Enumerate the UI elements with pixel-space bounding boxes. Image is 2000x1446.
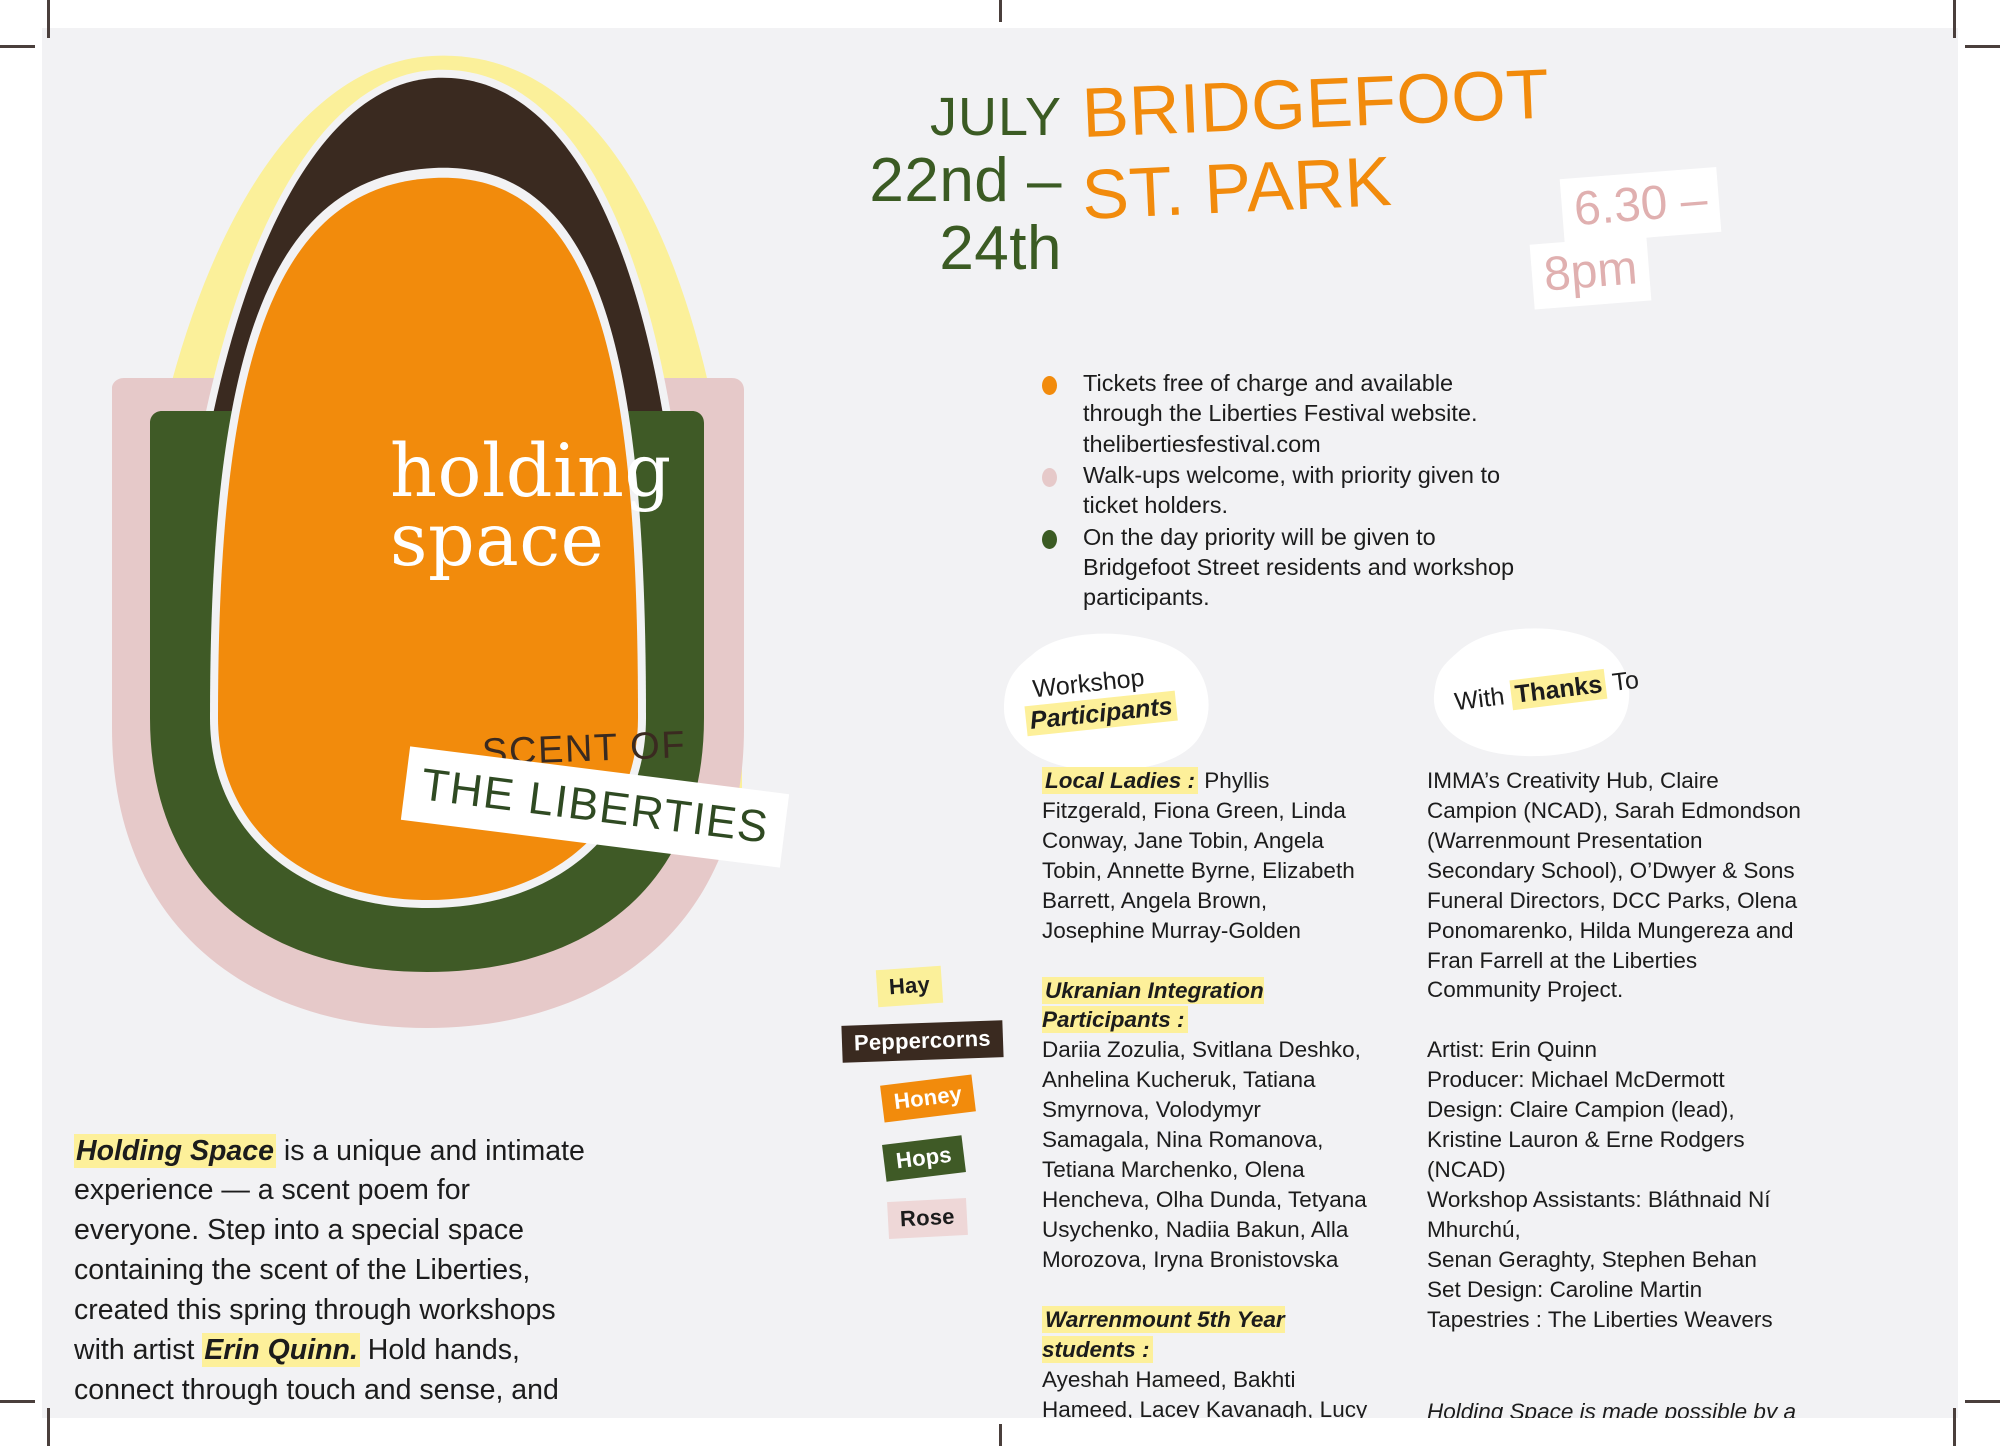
date-day-end: 24th (832, 218, 1062, 280)
workshop-participants-blob: Workshop Participants (1002, 633, 1222, 773)
participants-section-ukranian: Ukranian Integration Participants :Darii… (1042, 976, 1372, 1275)
ticket-info-list: Tickets free of charge and available thr… (1042, 368, 1522, 614)
poster-canvas: holding space SCENT OF THE LIBERTIES Hay… (0, 0, 2000, 1446)
crop-mark-top-right-v (1953, 0, 1956, 38)
credit-line-design: Design: Claire Campion (lead), (1427, 1095, 1807, 1125)
title-line-holding: holding (390, 438, 790, 507)
with-thanks-column: IMMA’s Creativity Hub, Claire Campion (N… (1427, 766, 1807, 1418)
bullet-text-walkups: Walk-ups welcome, with priority given to… (1083, 460, 1522, 521)
event-header: JULY 22nd – 24th BRIDGEFOOT ST. PARK 6.3… (832, 68, 1922, 298)
thanks-post: To (1604, 666, 1640, 698)
crop-mark-top-center (999, 0, 1002, 22)
credit-line-set-design: Set Design: Caroline Martin (1427, 1275, 1807, 1305)
event-time-line-2: 8pm (1530, 235, 1652, 309)
bullet-text-tickets: Tickets free of charge and available thr… (1083, 368, 1522, 459)
bullet-item-walkups: Walk-ups welcome, with priority given to… (1042, 460, 1522, 521)
date-day-start: 22nd – (832, 150, 1062, 212)
crop-mark-bottom-left-h (0, 1400, 35, 1403)
legend-chip-honey: Honey (880, 1075, 976, 1123)
bullet-dot-pink (1042, 468, 1057, 487)
credit-line-producer: Producer: Michael McDermott (1427, 1065, 1807, 1095)
credit-line-design-cont: Kristine Lauron & Erne Rodgers (NCAD) (1427, 1125, 1807, 1185)
section-heading-ukranian: Ukranian Integration Participants : (1042, 977, 1264, 1034)
legend-chip-rose: Rose (887, 1198, 967, 1239)
credit-line-assistants-cont: Senan Geraghty, Stephen Behan (1427, 1245, 1807, 1275)
poster-page: holding space SCENT OF THE LIBERTIES Hay… (42, 28, 1958, 1418)
legend-chip-hay: Hay (876, 966, 943, 1007)
crop-mark-bottom-right-v (1953, 1408, 1956, 1446)
crop-mark-top-left-v (47, 0, 50, 38)
venue-line-2: ST. PARK (1080, 139, 1550, 230)
bullet-dot-orange (1042, 376, 1057, 395)
credit-line-artist: Artist: Erin Quinn (1427, 1035, 1807, 1065)
intro-emphasis-title: Holding Space (74, 1134, 276, 1168)
bullet-text-priority: On the day priority will be given to Bri… (1083, 522, 1522, 613)
event-venue: BRIDGEFOOT ST. PARK (1082, 78, 1550, 230)
participants-section-local-ladies: Local Ladies : Phyllis Fitzgerald, Fiona… (1042, 766, 1372, 946)
section-heading-local-ladies: Local Ladies : (1042, 767, 1198, 794)
legend-chip-hops: Hops (882, 1135, 966, 1181)
crop-mark-bottom-center (999, 1424, 1002, 1446)
bullet-item-priority: On the day priority will be given to Bri… (1042, 522, 1522, 613)
bullet-item-tickets: Tickets free of charge and available thr… (1042, 368, 1522, 459)
participants-section-warrenmount: Warrenmount 5th Year students :Ayeshah H… (1042, 1305, 1372, 1418)
crop-mark-top-left-h (0, 45, 35, 48)
legend-chip-peppercorns: Peppercorns (841, 1020, 1003, 1063)
thanks-body: IMMA’s Creativity Hub, Claire Campion (N… (1427, 766, 1807, 1005)
venue-line-1: BRIDGEFOOT (1081, 58, 1551, 148)
section-body-ukranian: Dariia Zozulia, Svitlana Deshko, Anhelin… (1042, 1037, 1367, 1271)
crop-mark-bottom-left-v (47, 1408, 50, 1446)
section-heading-warrenmount: Warrenmount 5th Year students : (1042, 1306, 1285, 1363)
section-body-warrenmount: Ayeshah Hameed, Bakhti Hameed, Lacey Kav… (1042, 1367, 1371, 1418)
artwork-title: holding space (390, 438, 790, 575)
section-body-local-ladies: Phyllis Fitzgerald, Fiona Green, Linda C… (1042, 768, 1355, 943)
with-thanks-blob: With Thanks To (1432, 628, 1642, 758)
intro-body-1: is a unique and intimate experience — a … (74, 1135, 585, 1366)
event-date: JULY 22nd – 24th (832, 90, 1062, 280)
crop-mark-top-right-h (1965, 45, 2000, 48)
title-line-space: space (390, 507, 790, 576)
intro-emphasis-artist: Erin Quinn. (202, 1333, 360, 1367)
credit-line-workshop-assistants: Workshop Assistants: Bláthnaid Ní Mhurch… (1427, 1185, 1807, 1245)
funding-note: Holding Space is made possible by a Dubl… (1427, 1397, 1807, 1418)
thanks-pre: With (1453, 681, 1513, 716)
event-time-line-1: 6.30 – (1560, 167, 1722, 244)
workshop-participants-column: Local Ladies : Phyllis Fitzgerald, Fiona… (1042, 766, 1372, 1418)
crop-mark-bottom-right-h (1965, 1400, 2000, 1403)
intro-paragraph: Holding Space is a unique and intimate e… (74, 1132, 594, 1419)
credit-line-tapestries: Tapestries : The Liberties Weavers (1427, 1305, 1807, 1335)
bullet-dot-green (1042, 530, 1057, 549)
date-month: JULY (832, 90, 1062, 144)
